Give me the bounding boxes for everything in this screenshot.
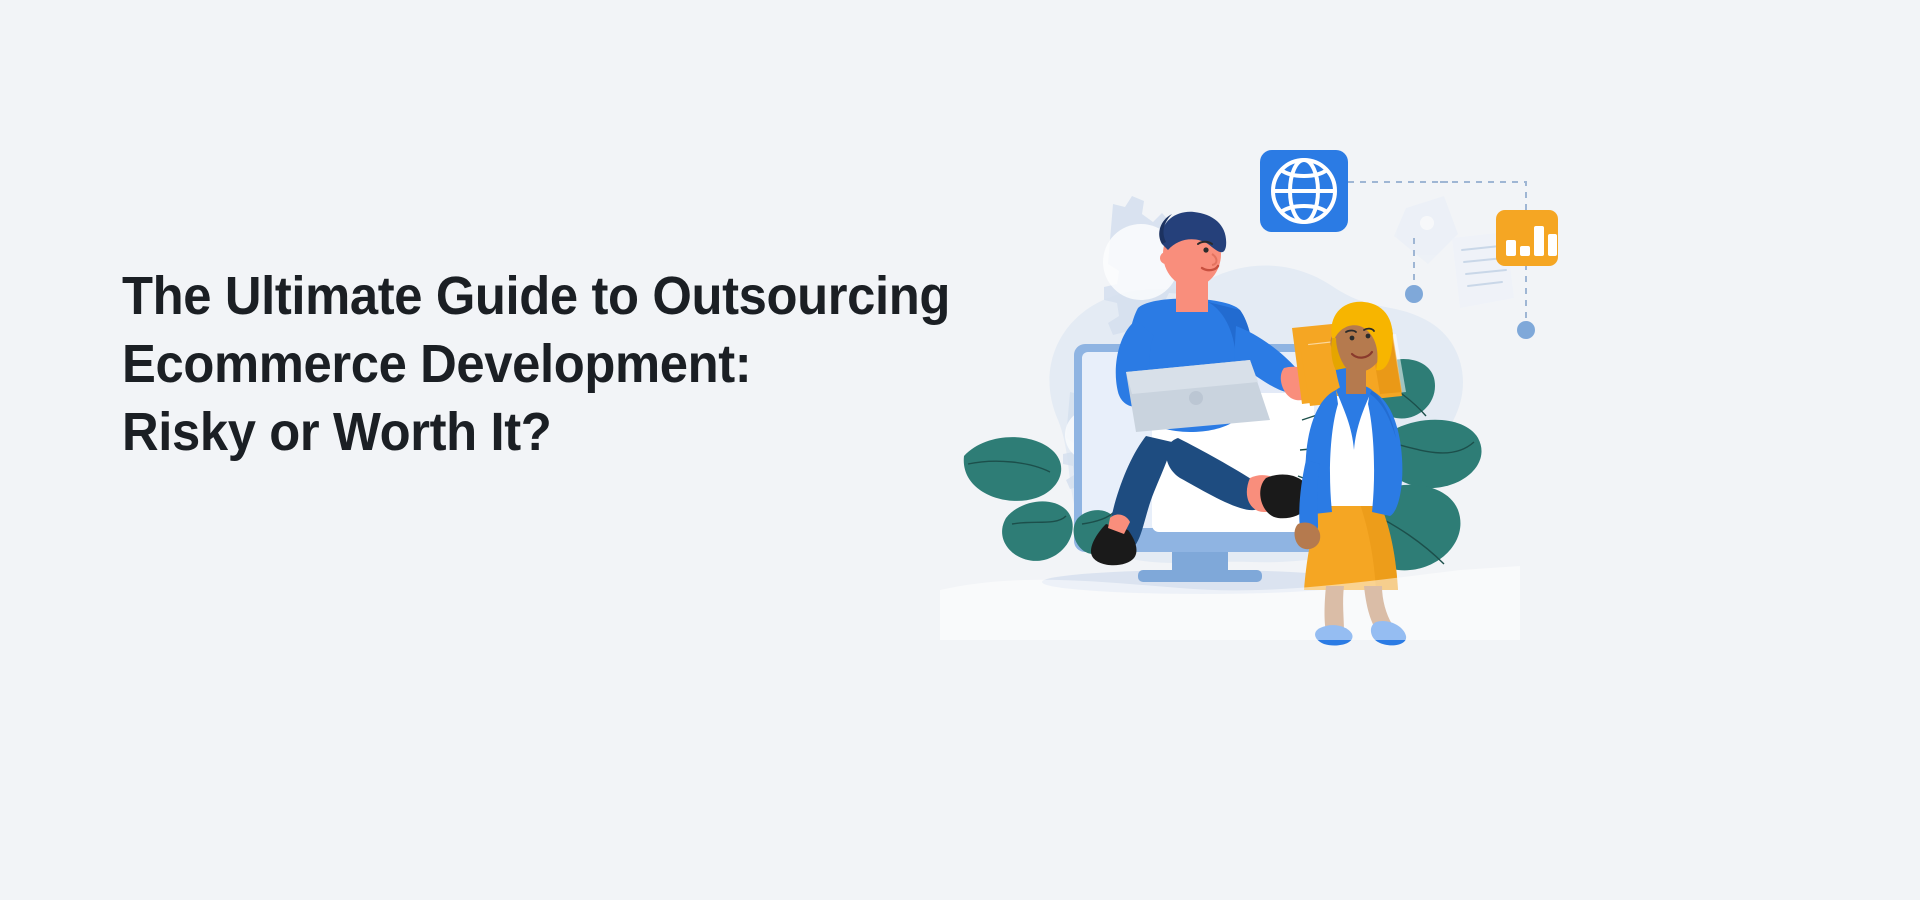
bar-chart-icon[interactable] [1496,210,1558,266]
tag-icon [1394,196,1458,264]
globe-icon[interactable] [1260,150,1348,232]
hero-banner: The Ultimate Guide to Outsourcing Ecomme… [0,0,1920,900]
headline-line-1: The Ultimate Guide to Outsourcing [122,262,968,330]
page-title: The Ultimate Guide to Outsourcing Ecomme… [122,262,1022,466]
connector-dot-right [1517,321,1535,339]
connector-dot-left [1405,285,1423,303]
headline-line-3: Risky or Worth It? [122,398,968,466]
hero-illustration [940,120,1520,640]
headline-line-2: Ecommerce Development: [122,330,968,398]
